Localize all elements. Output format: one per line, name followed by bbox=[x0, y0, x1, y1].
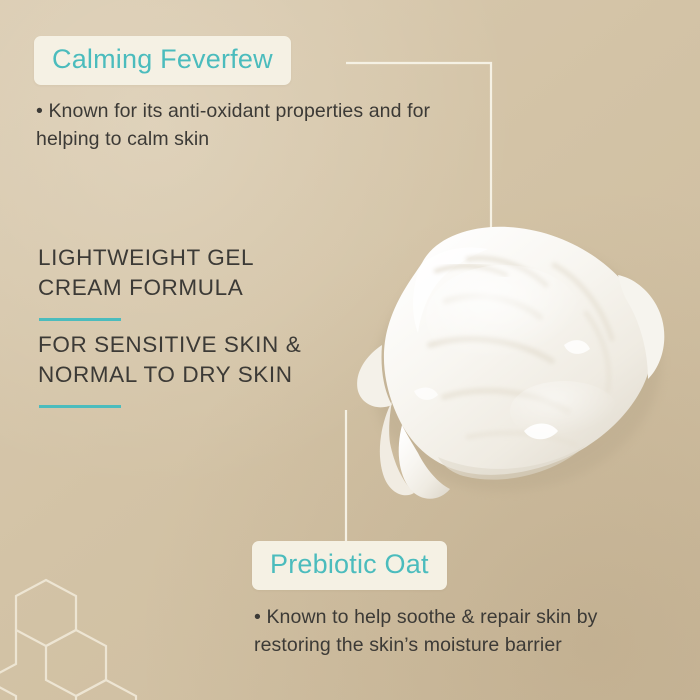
ingredient-label-oat: Prebiotic Oat bbox=[252, 541, 447, 590]
feature-formula-text: LIGHTWEIGHT GEL CREAM FORMULA bbox=[38, 243, 254, 304]
feature-divider-rule bbox=[39, 318, 121, 321]
hexagon-pattern-decoration bbox=[0, 540, 212, 700]
feature-divider-rule-bottom bbox=[39, 405, 121, 408]
ingredient-label-oat-text: Prebiotic Oat bbox=[270, 549, 429, 579]
ingredient-description-feverfew: • Known for its anti-oxidant properties … bbox=[36, 98, 456, 153]
feature-skin-type: FOR SENSITIVE SKIN & NORMAL TO DRY SKIN bbox=[38, 330, 301, 408]
feature-skin-type-text: FOR SENSITIVE SKIN & NORMAL TO DRY SKIN bbox=[38, 330, 301, 391]
product-ingredient-infographic: Calming Feverfew • Known for its anti-ox… bbox=[0, 0, 700, 700]
cream-swatch bbox=[318, 205, 678, 505]
ingredient-label-feverfew: Calming Feverfew bbox=[34, 36, 291, 85]
ingredient-description-oat: • Known to help soothe & repair skin by … bbox=[254, 604, 664, 659]
feature-formula: LIGHTWEIGHT GEL CREAM FORMULA bbox=[38, 243, 254, 321]
ingredient-label-feverfew-text: Calming Feverfew bbox=[52, 44, 273, 74]
